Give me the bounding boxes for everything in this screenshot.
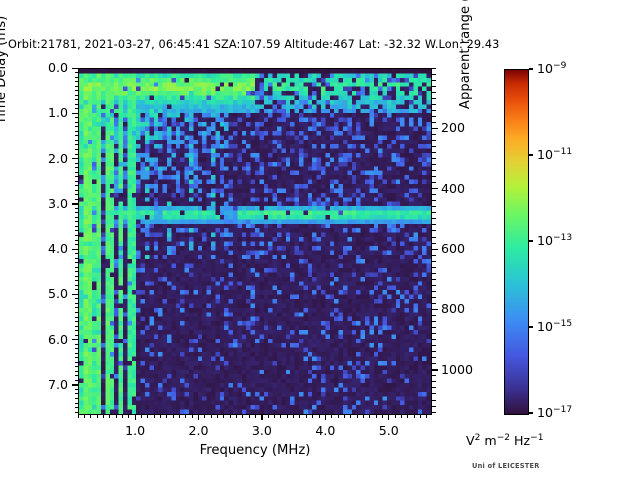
- y2-minor-tick: [432, 279, 436, 280]
- y2-minor-tick: [432, 387, 436, 388]
- y2-minor-tick: [432, 200, 436, 201]
- x-minor-tick: [192, 414, 193, 418]
- y-minor-tick: [75, 95, 79, 96]
- y-minor-tick: [75, 384, 79, 385]
- y2-minor-tick: [432, 285, 436, 286]
- x-minor-tick: [135, 414, 136, 418]
- y2-minor-tick: [432, 400, 436, 401]
- y2-minor-tick: [432, 291, 436, 292]
- y-minor-tick: [75, 271, 79, 272]
- y2-minor-tick: [432, 249, 436, 250]
- x-minor-tick: [306, 414, 307, 418]
- y-minor-tick: [75, 77, 79, 78]
- y2-minor-tick: [432, 406, 436, 407]
- x-minor-tick: [141, 414, 142, 418]
- y-minor-tick: [75, 403, 79, 404]
- y-minor-tick: [75, 298, 79, 299]
- x-minor-tick: [363, 414, 364, 418]
- y-minor-tick: [75, 312, 79, 313]
- x-minor-tick: [274, 414, 275, 418]
- y-minor-tick: [75, 280, 79, 281]
- y-minor-tick: [75, 253, 79, 254]
- y-minor-tick: [75, 276, 79, 277]
- y-tick-label: 6.0: [0, 332, 68, 347]
- x-minor-tick: [204, 414, 205, 418]
- y-tick-label: 5.0: [0, 286, 68, 301]
- y2-minor-tick: [432, 68, 436, 69]
- y-minor-tick: [75, 335, 79, 336]
- y-minor-tick: [75, 249, 79, 250]
- y-tick-label: 1.0: [0, 105, 68, 120]
- y-minor-tick: [75, 158, 79, 159]
- institution-credit: Uni of LEICESTER: [472, 462, 540, 470]
- y-minor-tick: [75, 212, 79, 213]
- x-minor-tick: [376, 414, 377, 418]
- y2-minor-tick: [432, 176, 436, 177]
- y-tick-label: 3.0: [0, 196, 68, 211]
- x-minor-tick: [154, 414, 155, 418]
- y-minor-tick: [75, 330, 79, 331]
- y2-minor-tick: [432, 224, 436, 225]
- y2-tick-label: 1000: [441, 362, 473, 377]
- y-minor-tick: [75, 149, 79, 150]
- y2-minor-tick: [432, 212, 436, 213]
- y2-minor-tick: [432, 122, 436, 123]
- x-minor-tick: [249, 414, 250, 418]
- x-minor-tick: [122, 414, 123, 418]
- colorbar-tick-mark: [529, 154, 533, 155]
- y-tick-label: 0.0: [0, 60, 68, 75]
- y-minor-tick: [75, 375, 79, 376]
- y-minor-tick: [75, 104, 79, 105]
- y2-minor-tick: [432, 369, 436, 370]
- y-minor-tick: [75, 68, 79, 69]
- x-minor-tick: [109, 414, 110, 418]
- y2-minor-tick: [432, 170, 436, 171]
- y-minor-tick: [75, 235, 79, 236]
- y-minor-tick: [75, 199, 79, 200]
- y2-minor-tick: [432, 92, 436, 93]
- x-axis-label: Frequency (MHz): [0, 443, 510, 458]
- y-minor-tick: [75, 339, 79, 340]
- y2-minor-tick: [432, 393, 436, 394]
- ionogram-plot-area: [78, 68, 432, 415]
- y-minor-tick: [75, 217, 79, 218]
- colorbar-tick-mark: [529, 240, 533, 241]
- x-minor-tick: [426, 414, 427, 418]
- y2-minor-tick: [432, 339, 436, 340]
- x-minor-tick: [369, 414, 370, 418]
- x-minor-tick: [78, 414, 79, 418]
- colorbar: [504, 69, 529, 415]
- x-minor-tick: [280, 414, 281, 418]
- y2-minor-tick: [432, 261, 436, 262]
- y-minor-tick: [75, 307, 79, 308]
- x-minor-tick: [331, 414, 332, 418]
- y-minor-tick: [75, 362, 79, 363]
- x-minor-tick: [287, 414, 288, 418]
- y2-minor-tick: [432, 86, 436, 87]
- y2-minor-tick: [432, 164, 436, 165]
- x-minor-tick: [395, 414, 396, 418]
- y2-minor-tick: [432, 315, 436, 316]
- y-minor-tick: [75, 344, 79, 345]
- y-minor-tick: [75, 353, 79, 354]
- y2-tick-label: 600: [441, 241, 465, 256]
- x-minor-tick: [179, 414, 180, 418]
- y-minor-tick: [75, 262, 79, 263]
- x-minor-tick: [242, 414, 243, 418]
- x-minor-tick: [198, 414, 199, 418]
- y2-minor-tick: [432, 375, 436, 376]
- y2-minor-tick: [432, 128, 436, 129]
- y2-minor-tick: [432, 146, 436, 147]
- y-minor-tick: [75, 126, 79, 127]
- y2-minor-tick: [432, 243, 436, 244]
- y2-tick-label: 800: [441, 301, 465, 316]
- y2-minor-tick: [432, 206, 436, 207]
- y-minor-tick: [75, 258, 79, 259]
- y-tick-label: 4.0: [0, 241, 68, 256]
- y2-minor-tick: [432, 297, 436, 298]
- y2-minor-tick: [432, 80, 436, 81]
- y-minor-tick: [75, 167, 79, 168]
- y2-minor-tick: [432, 273, 436, 274]
- y-minor-tick: [75, 113, 79, 114]
- colorbar-unit-label: V2 m−2 Hz−1: [466, 433, 544, 448]
- y-minor-tick: [75, 244, 79, 245]
- y-minor-tick: [75, 176, 79, 177]
- y2-minor-tick: [432, 110, 436, 111]
- x-minor-tick: [261, 414, 262, 418]
- x-minor-tick: [407, 414, 408, 418]
- x-minor-tick: [160, 414, 161, 418]
- y2-minor-tick: [432, 116, 436, 117]
- y2-minor-tick: [432, 188, 436, 189]
- colorbar-tick-label: 10−15: [537, 319, 572, 334]
- y2-minor-tick: [432, 134, 436, 135]
- x-minor-tick: [223, 414, 224, 418]
- y-minor-tick: [75, 185, 79, 186]
- x-tick-label: 2.0: [169, 423, 229, 438]
- x-minor-tick: [116, 414, 117, 418]
- y-minor-tick: [75, 208, 79, 209]
- x-minor-tick: [166, 414, 167, 418]
- colorbar-tick-mark: [529, 68, 533, 69]
- x-minor-tick: [325, 414, 326, 418]
- y2-minor-tick: [432, 98, 436, 99]
- y-minor-tick: [75, 412, 79, 413]
- y-minor-tick: [75, 172, 79, 173]
- x-minor-tick: [420, 414, 421, 418]
- x-minor-tick: [147, 414, 148, 418]
- y2-minor-tick: [432, 230, 436, 231]
- y-minor-tick: [75, 267, 79, 268]
- y-minor-tick: [75, 117, 79, 118]
- y2-minor-tick: [432, 74, 436, 75]
- y-minor-tick: [75, 240, 79, 241]
- x-minor-tick: [350, 414, 351, 418]
- y-minor-tick: [75, 163, 79, 164]
- colorbar-tick-label: 10−9: [537, 61, 566, 76]
- colorbar-tick-label: 10−13: [537, 233, 572, 248]
- y2-minor-tick: [432, 303, 436, 304]
- x-tick-label: 4.0: [295, 423, 355, 438]
- y2-minor-tick: [432, 321, 436, 322]
- x-tick-label: 3.0: [232, 423, 292, 438]
- y2-minor-tick: [432, 104, 436, 105]
- y-minor-tick: [75, 190, 79, 191]
- y-minor-tick: [75, 90, 79, 91]
- y-axis-right-label: Apparent range (km): [458, 0, 473, 140]
- y2-minor-tick: [432, 309, 436, 310]
- y2-minor-tick: [432, 140, 436, 141]
- y-minor-tick: [75, 285, 79, 286]
- x-minor-tick: [382, 414, 383, 418]
- y-minor-tick: [75, 393, 79, 394]
- y-minor-tick: [75, 226, 79, 227]
- y-minor-tick: [75, 108, 79, 109]
- x-tick-label: 1.0: [105, 423, 165, 438]
- spectrogram-heatmap: [79, 69, 431, 414]
- colorbar-tick-mark: [529, 412, 533, 413]
- y-minor-tick: [75, 348, 79, 349]
- x-minor-tick: [97, 414, 98, 418]
- x-minor-tick: [128, 414, 129, 418]
- figure-title: Orbit:21781, 2021-03-27, 06:45:41 SZA:10…: [8, 38, 499, 51]
- y2-tick-label: 400: [441, 181, 465, 196]
- y2-minor-tick: [432, 152, 436, 153]
- y-tick-label: 2.0: [0, 151, 68, 166]
- y2-minor-tick: [432, 345, 436, 346]
- y-minor-tick: [75, 72, 79, 73]
- y-minor-tick: [75, 326, 79, 327]
- x-minor-tick: [84, 414, 85, 418]
- y-minor-tick: [75, 317, 79, 318]
- y-tick-label: 7.0: [0, 377, 68, 392]
- x-minor-tick: [299, 414, 300, 418]
- y2-minor-tick: [432, 267, 436, 268]
- x-minor-tick: [357, 414, 358, 418]
- y-minor-tick: [75, 357, 79, 358]
- y-minor-tick: [75, 135, 79, 136]
- x-minor-tick: [236, 414, 237, 418]
- x-tick-label: 5.0: [359, 423, 419, 438]
- colorbar-tick-mark: [529, 326, 533, 327]
- x-minor-tick: [338, 414, 339, 418]
- y2-minor-tick: [432, 194, 436, 195]
- y-minor-tick: [75, 203, 79, 204]
- y-minor-tick: [75, 294, 79, 295]
- y2-minor-tick: [432, 412, 436, 413]
- y2-minor-tick: [432, 363, 436, 364]
- y-minor-tick: [75, 140, 79, 141]
- y-minor-tick: [75, 81, 79, 82]
- x-minor-tick: [173, 414, 174, 418]
- x-minor-tick: [319, 414, 320, 418]
- y-minor-tick: [75, 131, 79, 132]
- x-minor-tick: [388, 414, 389, 418]
- y-axis-label: Time Delay (ms): [0, 0, 9, 150]
- x-minor-tick: [401, 414, 402, 418]
- y2-minor-tick: [432, 351, 436, 352]
- y2-minor-tick: [432, 182, 436, 183]
- colorbar-tick-label: 10−11: [537, 147, 572, 162]
- x-minor-tick: [103, 414, 104, 418]
- y-minor-tick: [75, 221, 79, 222]
- y-minor-tick: [75, 230, 79, 231]
- y-minor-tick: [75, 371, 79, 372]
- y2-minor-tick: [432, 357, 436, 358]
- y2-minor-tick: [432, 333, 436, 334]
- y2-minor-tick: [432, 381, 436, 382]
- y2-minor-tick: [432, 218, 436, 219]
- y-minor-tick: [75, 366, 79, 367]
- ionogram-figure: Orbit:21781, 2021-03-27, 06:45:41 SZA:10…: [0, 0, 640, 480]
- y-minor-tick: [75, 321, 79, 322]
- x-minor-tick: [344, 414, 345, 418]
- x-minor-tick: [268, 414, 269, 418]
- colorbar-tick-label: 10−17: [537, 405, 572, 420]
- x-minor-tick: [211, 414, 212, 418]
- y-minor-tick: [75, 303, 79, 304]
- y-minor-tick: [75, 154, 79, 155]
- y-minor-tick: [75, 289, 79, 290]
- y-minor-tick: [75, 86, 79, 87]
- x-minor-tick: [217, 414, 218, 418]
- y-minor-tick: [75, 181, 79, 182]
- y-minor-tick: [75, 99, 79, 100]
- y-minor-tick: [75, 122, 79, 123]
- y2-minor-tick: [432, 255, 436, 256]
- x-minor-tick: [230, 414, 231, 418]
- x-minor-tick: [90, 414, 91, 418]
- x-minor-tick: [255, 414, 256, 418]
- y-minor-tick: [75, 398, 79, 399]
- y2-minor-tick: [432, 237, 436, 238]
- y-minor-tick: [75, 144, 79, 145]
- x-minor-tick: [414, 414, 415, 418]
- x-minor-tick: [293, 414, 294, 418]
- y-minor-tick: [75, 389, 79, 390]
- y-minor-tick: [75, 380, 79, 381]
- x-minor-tick: [185, 414, 186, 418]
- y2-minor-tick: [432, 158, 436, 159]
- y-minor-tick: [75, 407, 79, 408]
- y-minor-tick: [75, 194, 79, 195]
- y2-minor-tick: [432, 327, 436, 328]
- x-minor-tick: [312, 414, 313, 418]
